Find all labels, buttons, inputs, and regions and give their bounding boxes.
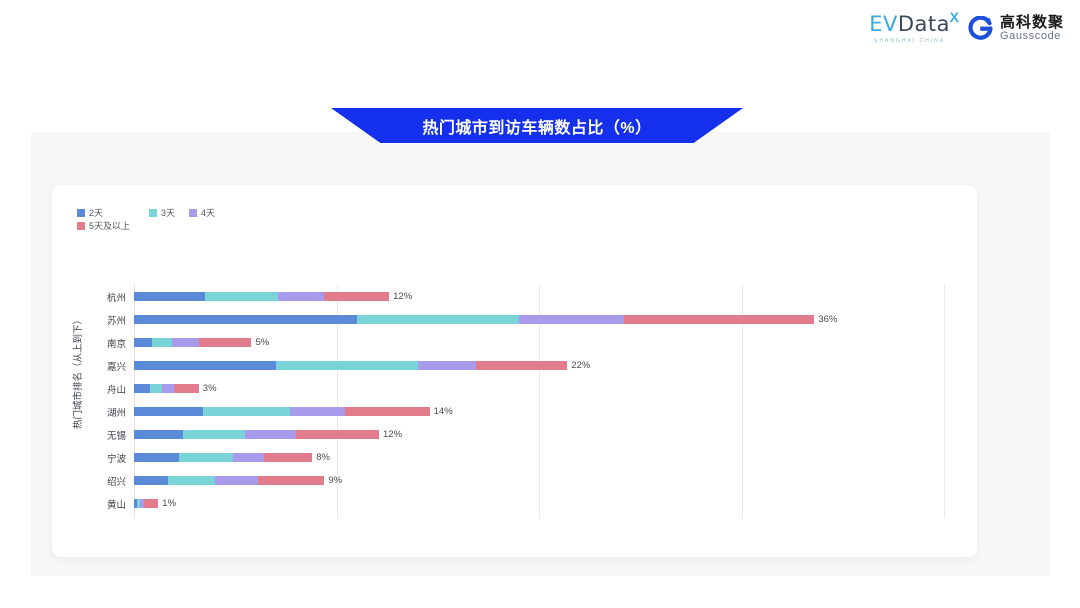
category-label-宁波: 宁波 xyxy=(52,451,126,465)
evdata-wordmark: EVData xyxy=(869,14,950,35)
category-label-湖州: 湖州 xyxy=(52,405,126,419)
chart-plot-area: 热门城市排名（从上到下） 杭州12%苏州36%南京5%嘉兴22%舟山3%湖州14… xyxy=(52,185,977,557)
bar-segment-3天[interactable] xyxy=(168,476,215,485)
stacked-bar[interactable] xyxy=(134,476,324,485)
bar-segment-5天及以上[interactable] xyxy=(296,430,379,439)
chart-row[interactable]: 南京5% xyxy=(52,331,977,354)
bar-segment-4天[interactable] xyxy=(290,407,345,416)
bar-value-label: 1% xyxy=(162,498,176,509)
bar-segment-2天[interactable] xyxy=(134,384,150,393)
bar-segment-2天[interactable] xyxy=(134,361,276,370)
stacked-bar[interactable] xyxy=(134,430,379,439)
bar-segment-3天[interactable] xyxy=(205,292,278,301)
stacked-bar[interactable] xyxy=(134,499,158,508)
page-title: 热门城市到访车辆数占比（%） xyxy=(422,114,651,138)
chart-row[interactable]: 宁波8% xyxy=(52,446,977,469)
chart-row[interactable]: 苏州36% xyxy=(52,308,977,331)
chart-row[interactable]: 无锡12% xyxy=(52,423,977,446)
gausscode-en-name: Gausscode xyxy=(1000,31,1064,43)
bar-segment-5天及以上[interactable] xyxy=(624,315,814,324)
category-label-嘉兴: 嘉兴 xyxy=(52,359,126,373)
stacked-bar[interactable] xyxy=(134,361,567,370)
bar-value-label: 12% xyxy=(383,429,402,440)
chart-row[interactable]: 绍兴9% xyxy=(52,469,977,492)
bar-segment-4天[interactable] xyxy=(418,361,477,370)
bar-segment-3天[interactable] xyxy=(203,407,290,416)
chart-row[interactable]: 湖州14% xyxy=(52,400,977,423)
bar-segment-2天[interactable] xyxy=(134,292,205,301)
category-label-无锡: 无锡 xyxy=(52,428,126,442)
brand-logo-bar: EVData X SHANGHAI CHINA 高科数聚 Gausscode xyxy=(869,14,1064,44)
bar-segment-4天[interactable] xyxy=(233,453,263,462)
category-label-南京: 南京 xyxy=(52,336,126,350)
bar-segment-2天[interactable] xyxy=(134,315,357,324)
bar-segment-2天[interactable] xyxy=(134,407,203,416)
bar-segment-5天及以上[interactable] xyxy=(324,292,389,301)
bar-segment-3天[interactable] xyxy=(357,315,519,324)
bar-value-label: 12% xyxy=(393,291,412,302)
bar-segment-5天及以上[interactable] xyxy=(199,338,252,347)
gausscode-cn-name: 高科数聚 xyxy=(1000,15,1064,31)
bar-segment-4天[interactable] xyxy=(245,430,296,439)
bar-segment-4天[interactable] xyxy=(162,384,174,393)
bar-segment-2天[interactable] xyxy=(134,453,179,462)
category-label-舟山: 舟山 xyxy=(52,382,126,396)
evdata-logo: EVData X SHANGHAI CHINA xyxy=(869,14,950,44)
section-title-banner: 热门城市到访车辆数占比（%） xyxy=(331,108,743,143)
category-label-绍兴: 绍兴 xyxy=(52,474,126,488)
bar-value-label: 9% xyxy=(328,475,342,486)
gausscode-text: 高科数聚 Gausscode xyxy=(1000,15,1064,42)
bar-segment-5天及以上[interactable] xyxy=(264,453,313,462)
bar-value-label: 3% xyxy=(203,383,217,394)
bar-value-label: 36% xyxy=(818,314,837,325)
bar-value-label: 5% xyxy=(255,337,269,348)
category-label-苏州: 苏州 xyxy=(52,313,126,327)
bar-segment-5天及以上[interactable] xyxy=(174,384,198,393)
category-label-黄山: 黄山 xyxy=(52,497,126,511)
bar-segment-3天[interactable] xyxy=(276,361,418,370)
chart-card: 2天3天4天5天及以上 热门城市排名（从上到下） 杭州12%苏州36%南京5%嘉… xyxy=(52,185,977,557)
bar-segment-3天[interactable] xyxy=(152,338,172,347)
chart-row[interactable]: 舟山3% xyxy=(52,377,977,400)
stacked-bar[interactable] xyxy=(134,384,199,393)
bar-value-label: 8% xyxy=(316,452,330,463)
bar-segment-5天及以上[interactable] xyxy=(144,499,158,508)
bar-segment-4天[interactable] xyxy=(215,476,258,485)
bar-segment-4天[interactable] xyxy=(278,292,325,301)
bar-segment-2天[interactable] xyxy=(134,476,168,485)
stacked-bar[interactable] xyxy=(134,292,389,301)
stacked-bar[interactable] xyxy=(134,315,814,324)
bar-value-label: 14% xyxy=(434,406,453,417)
chart-row[interactable]: 嘉兴22% xyxy=(52,354,977,377)
bar-segment-2天[interactable] xyxy=(134,338,152,347)
stacked-bar[interactable] xyxy=(134,453,312,462)
bar-segment-5天及以上[interactable] xyxy=(345,407,430,416)
stacked-bar[interactable] xyxy=(134,338,251,347)
chart-row[interactable]: 黄山1% xyxy=(52,492,977,515)
bar-segment-5天及以上[interactable] xyxy=(258,476,325,485)
chart-row[interactable]: 杭州12% xyxy=(52,285,977,308)
bar-segment-4天[interactable] xyxy=(172,338,198,347)
bar-segment-3天[interactable] xyxy=(150,384,162,393)
stacked-bar[interactable] xyxy=(134,407,430,416)
evdata-x-icon: X xyxy=(950,9,959,25)
category-label-杭州: 杭州 xyxy=(52,290,126,304)
bar-segment-3天[interactable] xyxy=(183,430,246,439)
gausscode-logo: 高科数聚 Gausscode xyxy=(968,15,1064,42)
evdata-tagline: SHANGHAI CHINA xyxy=(874,38,945,44)
bar-segment-4天[interactable] xyxy=(519,315,624,324)
bar-value-label: 22% xyxy=(571,360,590,371)
evdata-wordmark-ev: EV xyxy=(869,12,898,36)
bar-segment-3天[interactable] xyxy=(179,453,234,462)
gausscode-g-icon xyxy=(968,16,993,41)
evdata-wordmark-data: Data xyxy=(898,12,950,36)
bar-segment-2天[interactable] xyxy=(134,430,183,439)
bar-segment-5天及以上[interactable] xyxy=(476,361,567,370)
